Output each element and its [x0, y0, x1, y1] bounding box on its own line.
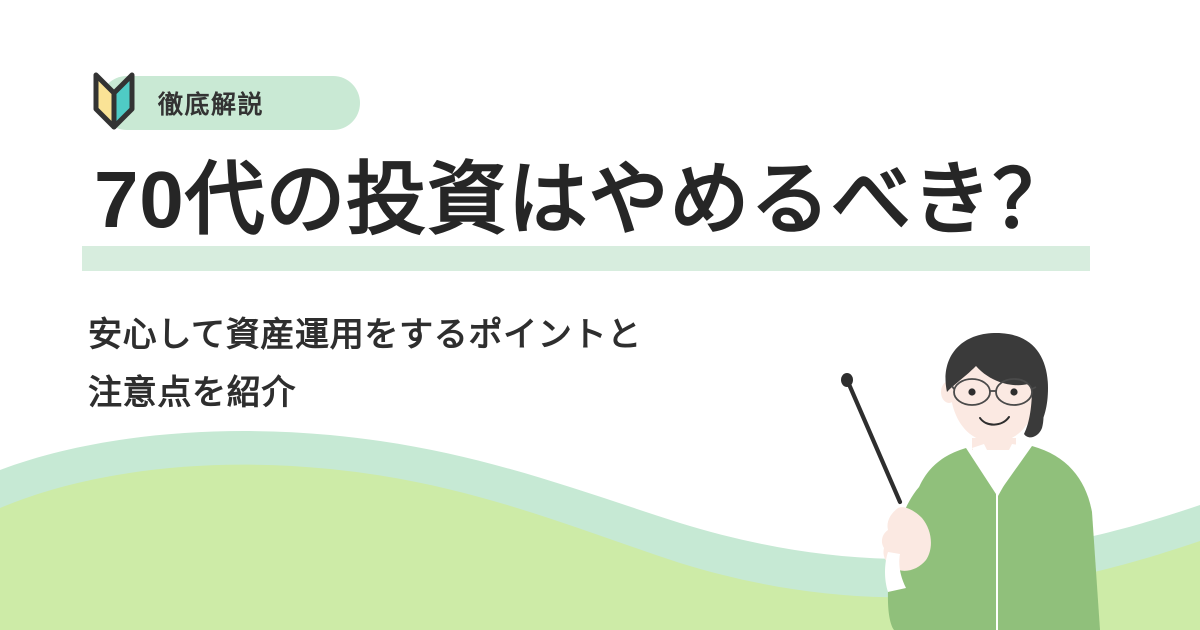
woman-teacher-illustration: [800, 330, 1200, 630]
cardigan-right-shape: [998, 446, 1100, 630]
page-title: 70代の投資はやめるべき？: [82, 146, 1102, 254]
wakaba-beginner-mark-icon: [92, 71, 136, 131]
pointer-stick-icon: [841, 373, 900, 502]
category-badge: 徹底解説: [80, 76, 264, 130]
title-block: 70代の投資はやめるべき？: [82, 146, 1102, 254]
eye-left-shape: [968, 388, 975, 395]
eye-right-shape: [1010, 388, 1017, 395]
page-subtitle: 安心して資産運用をするポイントと 注意点を紹介: [88, 306, 642, 422]
og-image-canvas: 徹底解説 70代の投資はやめるべき？ 安心して資産運用をするポイントと 注意点を…: [0, 0, 1200, 630]
badge-label: 徹底解説: [158, 85, 264, 121]
